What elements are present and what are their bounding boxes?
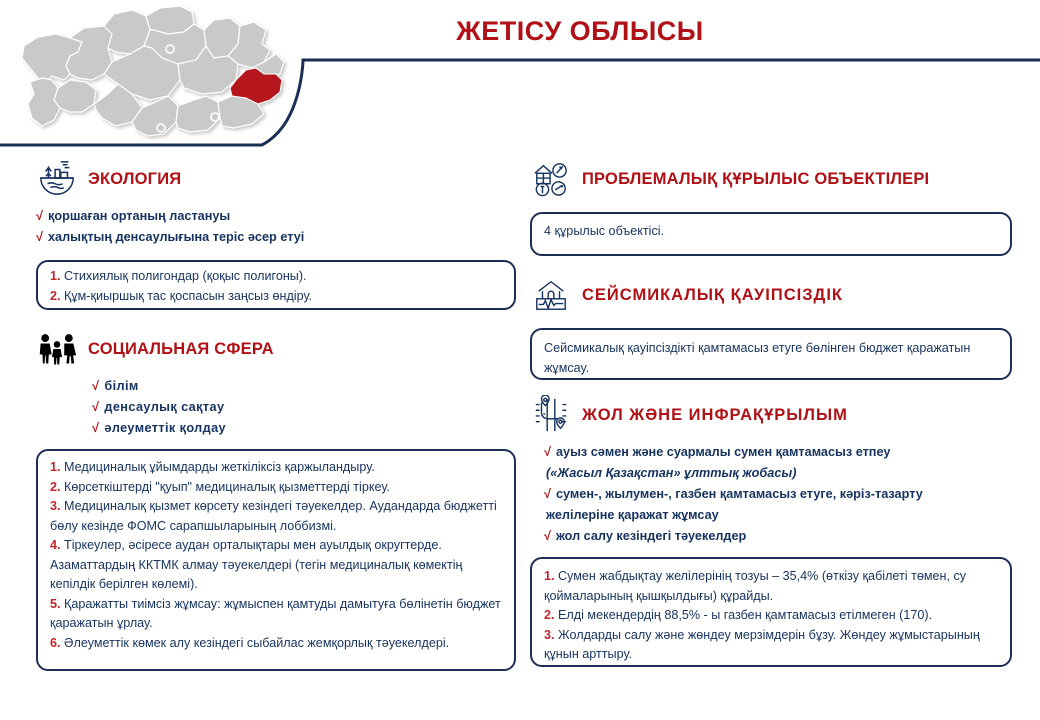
check-mark-icon: √ [544,487,551,501]
road-issues-box: 1. Сумен жабдықтау желілерінің тозуы – 3… [530,557,1012,667]
item-number: 3. [50,499,61,513]
item-text: Сейсмикалық қауіпсіздікті қамтамасыз ету… [544,341,970,375]
construction-title: ПРОБЛЕМАЛЫҚ ҚҰРЫЛЫС ОБЪЕКТІЛЕРІ [582,170,929,189]
section-road: ЖОЛ ЖӘНЕ ИНФРАҚҰРЫЛЫМ √ауыз сәмен және с… [530,394,1012,667]
check-mark-icon: √ [544,445,551,459]
checklist-label: қоршаған ортаның ластануы [48,209,230,223]
item-number: 5. [50,597,61,611]
header-banner: ЖЕТІСУ ОБЛЫСЫ [0,0,1040,150]
road-title: ЖОЛ ЖӘНЕ ИНФРАҚҰРЫЛЫМ [582,406,848,425]
kazakhstan-map [8,4,298,144]
social-issues-box: 1. Медициналық ұйымдарды жеткіліксіз қар… [36,449,516,671]
list-item: √ауыз сәмен және суармалы сумен қамтамас… [544,442,1012,463]
road-map-icon [530,395,572,435]
ecology-checklist: √қоршаған ортаның ластануы √халықтың ден… [36,206,516,248]
list-item: 4 құрылыс объектісі. [544,222,998,242]
list-item: 5. Қаражатты тиімсіз жұмсау: жұмыспен қа… [50,595,502,634]
right-column: ПРОБЛЕМАЛЫҚ ҚҰРЫЛЫС ОБЪЕКТІЛЕРІ 4 құрылы… [530,150,1012,667]
ecology-header: ЭКОЛОГИЯ [36,158,516,200]
list-item: √халықтың денсаулығына теріс әсер етуі [36,227,516,248]
section-ecology: ЭКОЛОГИЯ √қоршаған ортаның ластануы √хал… [36,158,516,310]
check-mark-icon: √ [544,529,551,543]
check-mark-icon: √ [92,379,99,393]
social-header: СОЦИАЛЬНАЯ СФЕРА [36,328,516,370]
road-header: ЖОЛ ЖӘНЕ ИНФРАҚҰРЫЛЫМ [530,394,1012,436]
list-item: 3. Жолдарды салу және жөндеу мерзімдерін… [544,626,998,665]
item-text: Тіркеулер, әсіресе аудан орталықтары мен… [50,538,462,591]
list-item: 2. Елді мекендердің 88,5% - ы газбен қам… [544,606,998,626]
checklist-label: халықтың денсаулығына теріс әсер етуі [48,230,304,244]
checklist-label: білім [104,379,138,393]
item-text: Құм-қиыршық тас қоспасын заңсыз өндіру. [64,289,312,303]
list-item: √сумен-, жылумен-, газбен қамтамасыз ету… [544,484,1012,505]
seismic-house-icon [530,275,572,315]
item-number: 2. [544,608,555,622]
check-mark-icon: √ [92,400,99,414]
road-note: («Жасыл Қазақстан» ұлттық жобасы) [544,463,1012,484]
ecology-factory-icon [36,159,78,199]
list-item: 1. Сумен жабдықтау желілерінің тозуы – 3… [544,567,998,606]
checklist-label: сумен-, жылумен-, газбен қамтамасыз етуг… [556,487,923,501]
item-number: 1. [50,460,61,474]
list-item: 1. Стихиялық полигондар (қоқыс полигоны)… [50,267,502,287]
checklist-label: денсаулық сақтау [104,400,224,414]
section-seismic: СЕЙСМИКАЛЫҚ ҚАУІПСІЗДІК Сейсмикалық қауі… [530,274,1012,380]
road-checklist: √ауыз сәмен және суармалы сумен қамтамас… [544,442,1012,547]
item-text: Медициналық қызмет көрсету кезіндегі тәу… [50,499,497,533]
seismic-issues-box: Сейсмикалық қауіпсіздікті қамтамасыз ету… [530,328,1012,380]
item-number: 1. [544,569,555,583]
item-text: Медициналық ұйымдарды жеткіліксіз қаржыл… [64,460,375,474]
family-icon [36,329,78,369]
section-construction: ПРОБЛЕМАЛЫҚ ҚҰРЫЛЫС ОБЪЕКТІЛЕРІ 4 құрылы… [530,158,1012,256]
item-text: Қаражатты тиімсіз жұмсау: жұмыспен қамту… [50,597,501,631]
road-continuation: желілеріне қаражат жұмсау [544,505,1012,526]
left-column: ЭКОЛОГИЯ √қоршаған ортаның ластануы √хал… [36,150,516,671]
item-text: Жолдарды салу және жөндеу мерзімдерін бұ… [544,628,980,662]
check-mark-icon: √ [92,421,99,435]
construction-tools-icon [530,159,572,199]
check-mark-icon: √ [36,209,43,223]
seismic-header: СЕЙСМИКАЛЫҚ ҚАУІПСІЗДІК [530,274,1012,316]
list-item: 4. Тіркеулер, әсіресе аудан орталықтары … [50,536,502,595]
checklist-label: ауыз сәмен және суармалы сумен қамтамасы… [556,445,890,459]
list-item: √жол салу кезіндегі тәуекелдер [544,526,1012,547]
item-number: 6. [50,636,61,650]
item-text: 4 құрылыс объектісі. [544,224,664,238]
list-item: 3. Медициналық қызмет көрсету кезіндегі … [50,497,502,536]
item-text: Көрсеткіштерді "қуып" медициналық қызмет… [64,480,390,494]
item-number: 4. [50,538,61,552]
list-item: √әлеуметтік қолдау [92,418,516,439]
list-item: 6. Әлеуметтік көмек алу кезіндегі сыбайл… [50,634,502,654]
item-number: 2. [50,480,61,494]
checklist-label: жол салу кезіндегі тәуекелдер [556,529,746,543]
seismic-title: СЕЙСМИКАЛЫҚ ҚАУІПСІЗДІК [582,286,843,305]
item-text: Елді мекендердің 88,5% - ы газбен қамтам… [558,608,932,622]
item-number: 2. [50,289,61,303]
item-number: 1. [50,269,61,283]
item-text: Сумен жабдықтау желілерінің тозуы – 35,4… [544,569,966,603]
list-item: √білім [92,376,516,397]
list-item: √қоршаған ортаның ластануы [36,206,516,227]
list-item: 2. Құм-қиыршық тас қоспасын заңсыз өндір… [50,287,502,307]
construction-issues-box: 4 құрылыс объектісі. [530,212,1012,256]
ecology-issues-box: 1. Стихиялық полигондар (қоқыс полигоны)… [36,260,516,310]
list-item: Сейсмикалық қауіпсіздікті қамтамасыз ету… [544,339,998,378]
item-text: Стихиялық полигондар (қоқыс полигоны). [64,269,307,283]
section-social: СОЦИАЛЬНАЯ СФЕРА √білім √денсаулық сақта… [36,328,516,671]
list-item: 2. Көрсеткіштерді "қуып" медициналық қыз… [50,478,502,498]
item-text: Әлеуметтік көмек алу кезіндегі сыбайлас … [64,636,449,650]
page-title: ЖЕТІСУ ОБЛЫСЫ [300,16,860,47]
checklist-label: әлеуметтік қолдау [104,421,226,435]
ecology-title: ЭКОЛОГИЯ [88,170,181,189]
list-item: 1. Медициналық ұйымдарды жеткіліксіз қар… [50,458,502,478]
check-mark-icon: √ [36,230,43,244]
list-item: √денсаулық сақтау [92,397,516,418]
social-title: СОЦИАЛЬНАЯ СФЕРА [88,340,274,359]
item-number: 3. [544,628,555,642]
construction-header: ПРОБЛЕМАЛЫҚ ҚҰРЫЛЫС ОБЪЕКТІЛЕРІ [530,158,1012,200]
social-checklist: √білім √денсаулық сақтау √әлеуметтік қол… [92,376,516,439]
